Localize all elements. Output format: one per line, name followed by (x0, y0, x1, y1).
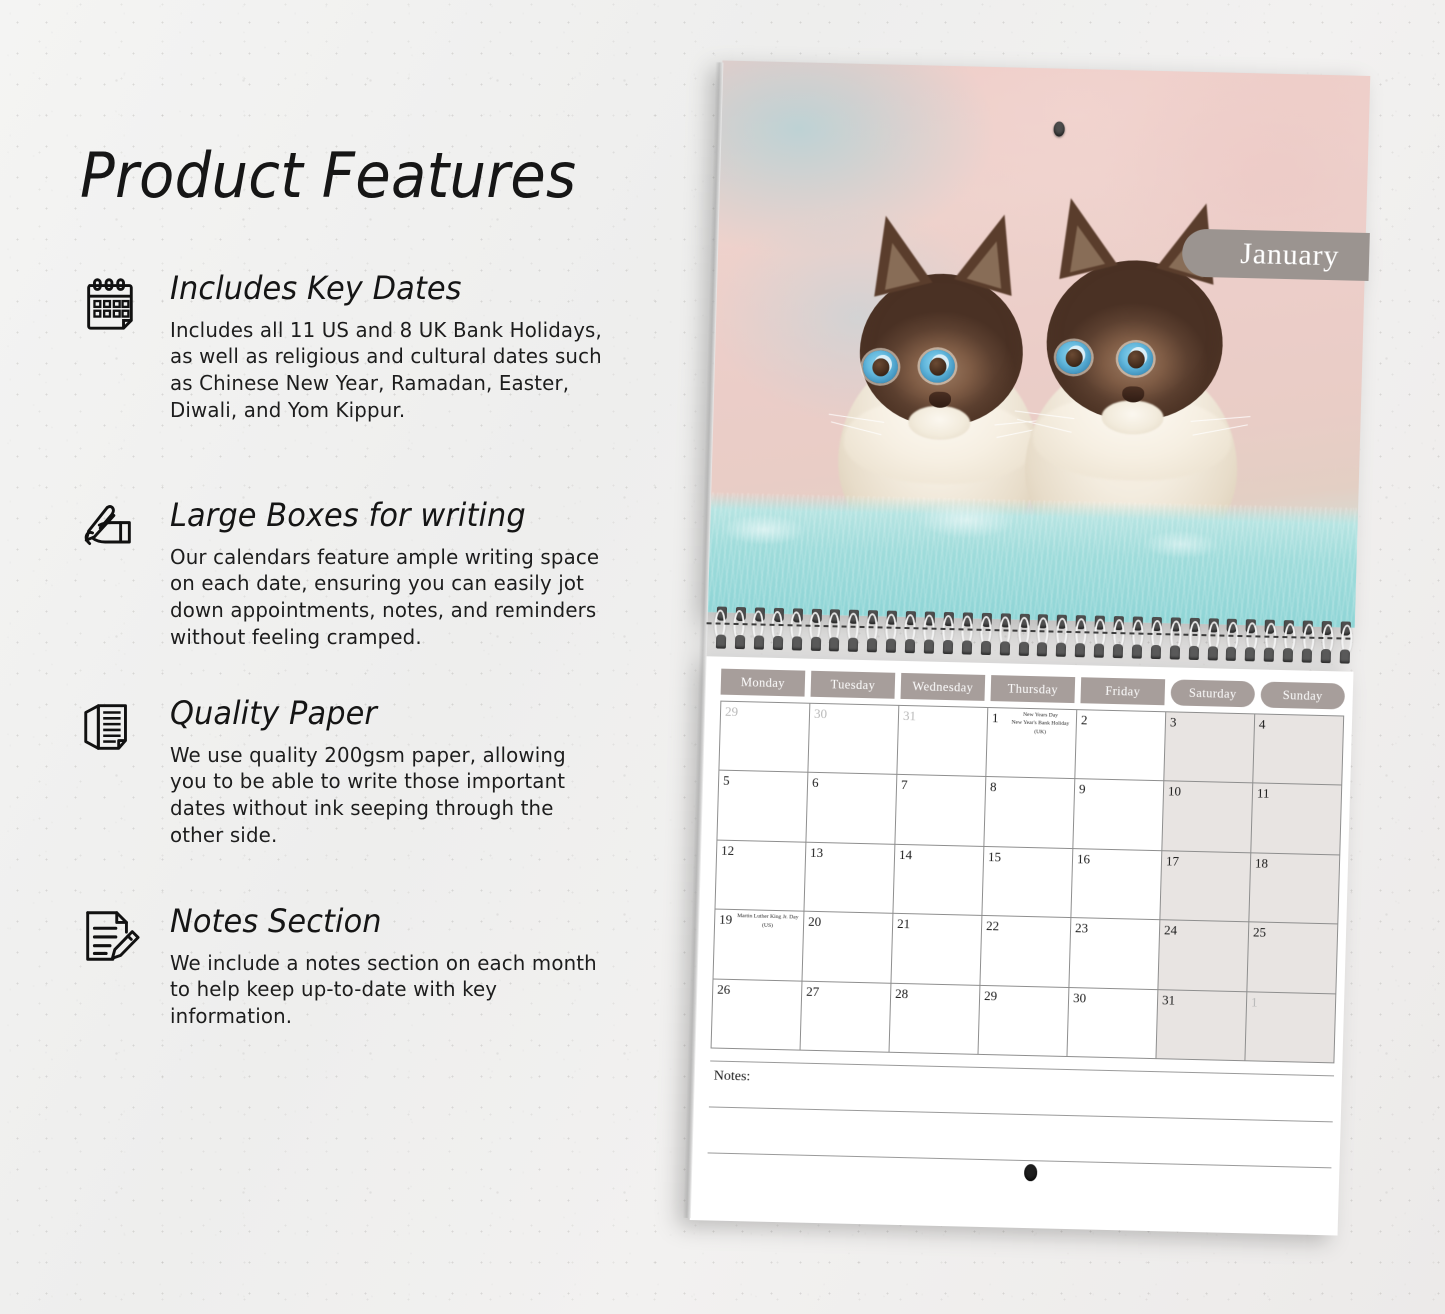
date-number: 28 (895, 986, 975, 1001)
date-number: 13 (810, 846, 890, 861)
date-cell: 15 (982, 847, 1073, 918)
date-cell: 20 (802, 912, 893, 984)
date-cell: 11 (1251, 784, 1342, 856)
date-cell: 28 (890, 983, 981, 1055)
date-number: 10 (1168, 785, 1248, 800)
date-number: 17 (1166, 854, 1246, 869)
punch-hole (1056, 643, 1066, 657)
date-cell: 27 (801, 981, 892, 1053)
date-cell: 13 (804, 843, 895, 914)
date-cell: 3 (1164, 712, 1255, 783)
date-cell: 30 (1067, 988, 1158, 1060)
date-number: 7 (901, 778, 981, 793)
punch-hole (999, 641, 1009, 655)
date-number: 26 (717, 982, 797, 997)
day-header-wednesday: Wednesday (901, 673, 986, 701)
date-number: 5 (723, 774, 803, 789)
feature-heading: Includes Key Dates (170, 272, 624, 306)
day-header-monday: Monday (721, 669, 806, 697)
punch-hole (810, 637, 820, 651)
feature-body: We use quality 200gsm paper, allowing yo… (170, 742, 599, 849)
punch-hole (1169, 645, 1179, 659)
feature-item: Notes Section We include a notes section… (78, 905, 648, 1030)
date-cell: 5 (717, 771, 808, 843)
punch-hole (848, 638, 858, 652)
date-cell: 7 (895, 775, 986, 847)
writing-hand-icon (78, 499, 140, 561)
punch-hole (1132, 644, 1142, 658)
punch-hole (962, 640, 972, 654)
punch-hole (754, 635, 764, 649)
date-number: 4 (1259, 717, 1339, 732)
date-number: 31 (903, 709, 983, 724)
date-cell: 4 (1253, 714, 1344, 785)
notes-section: Notes: (707, 1060, 1335, 1205)
punch-hole (1302, 649, 1312, 663)
date-number: 29 (725, 705, 805, 720)
punch-hole (829, 637, 839, 651)
date-number: 16 (1077, 852, 1157, 867)
date-number: 11 (1257, 787, 1337, 802)
punch-hole (980, 641, 990, 655)
date-cell: 16 (1071, 849, 1162, 920)
punch-hole (773, 636, 783, 650)
date-number: 15 (988, 850, 1068, 865)
feature-item: Large Boxes for writing Our calendars fe… (78, 499, 648, 650)
date-cell: 14 (893, 845, 984, 916)
punch-hole (1264, 648, 1274, 662)
punch-hole (924, 639, 934, 653)
feature-item: Quality Paper We use quality 200gsm pape… (78, 697, 648, 848)
date-cell: 19Martin Luther King Jr. Day (US) (714, 910, 805, 982)
calendar-grid-page: MondayTuesdayWednesdayThursdayFridaySatu… (690, 656, 1354, 1235)
date-cell: 26 (712, 979, 803, 1051)
punch-hole (716, 634, 726, 648)
feature-heading: Large Boxes for writing (170, 499, 624, 533)
note-pencil-icon (78, 905, 140, 967)
punch-hole (943, 640, 953, 654)
date-cell: 24 (1158, 920, 1249, 992)
date-cell: 18 (1249, 853, 1340, 924)
feature-body: Our calendars feature ample writing spac… (170, 544, 599, 651)
features-panel: Product Features (0, 0, 700, 1314)
wall-calendar-mockup: January MondayTuesdayWednesdayThursdayFr… (690, 60, 1371, 1235)
date-cell: 9 (1073, 780, 1164, 852)
date-cell: 8 (984, 777, 1075, 849)
date-cell: 30 (808, 704, 899, 775)
date-number: 8 (990, 780, 1070, 795)
date-cell: 31 (1156, 990, 1247, 1062)
date-number: 9 (1079, 783, 1159, 798)
punch-hole (1151, 645, 1161, 659)
punch-hole (1094, 644, 1104, 658)
punch-hole (1340, 649, 1350, 663)
page-title: Product Features (80, 139, 576, 212)
date-number: 23 (1075, 921, 1155, 936)
date-number: 27 (806, 984, 886, 999)
product-feature-page: Product Features (0, 0, 1445, 1314)
punch-hole (1245, 647, 1255, 661)
date-cell: 6 (806, 773, 897, 845)
feature-body: Includes all 11 US and 8 UK Bank Holiday… (170, 317, 609, 424)
punch-hole (791, 636, 801, 650)
date-cell: 22 (980, 916, 1071, 988)
punch-hole (1188, 646, 1198, 660)
punch-hole (1075, 643, 1085, 657)
punch-hole (1018, 642, 1028, 656)
notes-rule (708, 1152, 1332, 1168)
date-number: 6 (812, 776, 892, 791)
punch-hole (1321, 649, 1331, 663)
date-cell: 25 (1247, 923, 1338, 995)
date-number: 30 (814, 707, 894, 722)
punch-hole (1113, 644, 1123, 658)
punch-hole (735, 635, 745, 649)
date-number: 2 (1081, 713, 1161, 728)
date-cell: 1New Years DayNew Year's Bank Holiday (U… (986, 708, 1077, 779)
date-cell: 1 (1245, 992, 1336, 1064)
date-event-label: New Years DayNew Year's Bank Holiday (UK… (1008, 710, 1074, 737)
feature-heading: Notes Section (170, 905, 624, 939)
notes-rule (709, 1106, 1333, 1122)
date-number: 31 (1162, 993, 1242, 1008)
feature-item: Includes Key Dates Includes all 11 US an… (78, 272, 648, 423)
punch-hole (905, 639, 915, 653)
date-number: 29 (984, 989, 1064, 1004)
day-header-tuesday: Tuesday (811, 671, 896, 699)
paper-stack-icon (78, 697, 140, 759)
day-header-thursday: Thursday (990, 675, 1075, 703)
date-number: 25 (1253, 926, 1333, 941)
date-number: 30 (1073, 991, 1153, 1006)
date-number: 21 (897, 917, 977, 932)
date-cell: 21 (891, 914, 982, 986)
date-number: 20 (808, 915, 888, 930)
month-label-badge: January (1182, 229, 1370, 281)
date-cell: 2 (1075, 710, 1166, 781)
feature-heading: Quality Paper (170, 697, 624, 731)
date-number: 18 (1255, 856, 1335, 871)
notes-rule (710, 1060, 1334, 1076)
date-number: 24 (1164, 923, 1244, 938)
date-number: 14 (899, 848, 979, 863)
calendar-photo (707, 60, 1370, 627)
date-cell: 23 (1069, 918, 1160, 990)
day-header-sunday: Sunday (1260, 682, 1345, 710)
punch-hole (886, 639, 896, 653)
feature-body: We include a notes section on each month… (170, 950, 609, 1030)
date-cell: 10 (1162, 782, 1253, 854)
date-number: 12 (721, 843, 801, 858)
date-number: 1 (1251, 995, 1331, 1010)
date-cell: 17 (1160, 851, 1251, 922)
punch-hole (1037, 642, 1047, 656)
punch-hole (1283, 648, 1293, 662)
date-number: 22 (986, 919, 1066, 934)
date-number: 3 (1170, 715, 1250, 730)
date-cell: 29 (978, 986, 1069, 1058)
calendar-icon (78, 272, 140, 334)
date-cell: 12 (715, 840, 806, 911)
month-label: January (1240, 237, 1340, 273)
date-grid: 2930311New Years DayNew Year's Bank Holi… (711, 701, 1345, 1064)
day-header-friday: Friday (1080, 677, 1165, 705)
notes-label: Notes: (714, 1069, 751, 1086)
date-event-label: Martin Luther King Jr. Day (US) (735, 912, 800, 930)
date-cell: 31 (897, 706, 988, 777)
day-header-saturday: Saturday (1170, 679, 1255, 707)
punch-hole (867, 638, 877, 652)
punch-hole (1226, 647, 1236, 661)
date-cell: 29 (719, 702, 810, 773)
punch-hole (1207, 646, 1217, 660)
